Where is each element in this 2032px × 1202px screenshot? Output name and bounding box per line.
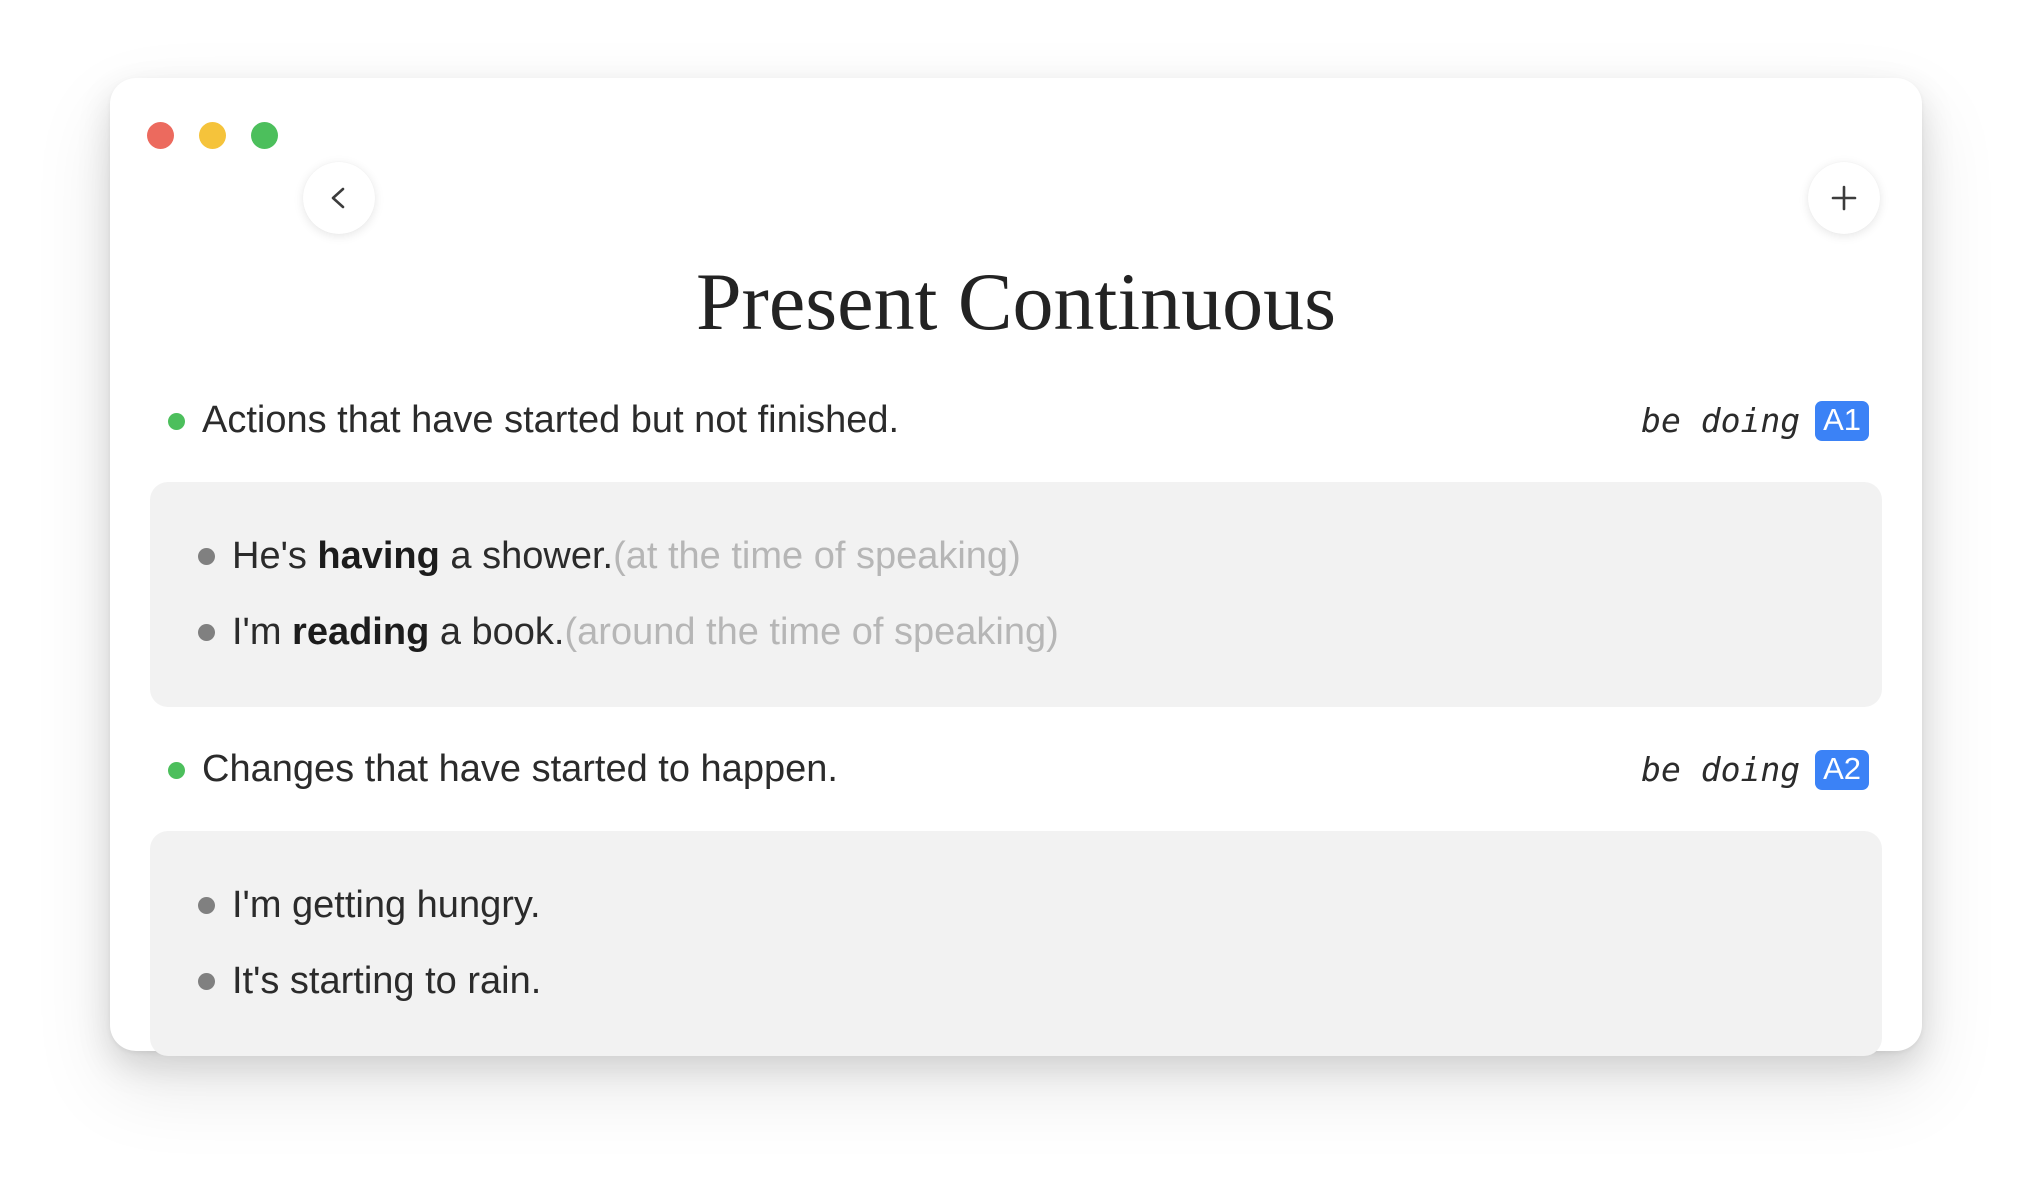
- screen: Present Continuous Actions that have sta…: [0, 0, 2032, 1202]
- rule-text: Actions that have started but not finish…: [202, 398, 899, 444]
- example-text: I'm reading a book.(around the time of s…: [232, 609, 1059, 657]
- chevron-left-icon: [326, 185, 352, 211]
- back-button[interactable]: [303, 162, 375, 234]
- rule-right: be doing A1: [1641, 401, 1869, 442]
- rule-left: Actions that have started but not finish…: [168, 398, 899, 444]
- bullet-icon: [198, 897, 215, 914]
- list-item[interactable]: He's having a shower.(at the time of spe…: [180, 522, 1852, 592]
- example-pre: I'm: [232, 611, 292, 653]
- bullet-icon: [168, 762, 185, 779]
- app-window: Present Continuous Actions that have sta…: [110, 78, 1922, 1051]
- plus-icon: [1829, 183, 1859, 213]
- list-item[interactable]: It's starting to rain.: [180, 947, 1852, 1017]
- example-text: It's starting to rain.: [232, 958, 541, 1006]
- rule-left: Changes that have started to happen.: [168, 747, 838, 793]
- zoom-button[interactable]: [251, 122, 278, 149]
- example-pre: I'm getting hungry.: [232, 884, 541, 926]
- page-title: Present Continuous: [110, 261, 1922, 343]
- list-item[interactable]: I'm reading a book.(around the time of s…: [180, 598, 1852, 668]
- example-bold: reading: [292, 611, 429, 653]
- close-button[interactable]: [147, 122, 174, 149]
- traffic-lights: [147, 122, 278, 149]
- example-text: He's having a shower.(at the time of spe…: [232, 533, 1021, 581]
- rule-row[interactable]: Actions that have started but not finish…: [150, 378, 1882, 464]
- example-bold: having: [317, 535, 439, 577]
- add-button[interactable]: [1808, 162, 1880, 234]
- level-badge[interactable]: A2: [1815, 750, 1869, 791]
- verb-form-label: be doing: [1641, 401, 1800, 440]
- example-post: a book.: [429, 611, 564, 653]
- bullet-icon: [198, 548, 215, 565]
- rule-text: Changes that have started to happen.: [202, 747, 838, 793]
- example-note: (around the time of speaking): [565, 611, 1059, 653]
- example-card: He's having a shower.(at the time of spe…: [150, 482, 1882, 707]
- bullet-icon: [168, 413, 185, 430]
- rule-right: be doing A2: [1641, 750, 1869, 791]
- minimize-button[interactable]: [199, 122, 226, 149]
- example-pre: He's: [232, 535, 317, 577]
- example-card: I'm getting hungry. It's starting to rai…: [150, 831, 1882, 1056]
- list-item[interactable]: I'm getting hungry.: [180, 871, 1852, 941]
- example-text: I'm getting hungry.: [232, 882, 541, 930]
- verb-form-label: be doing: [1641, 750, 1800, 789]
- rule-row[interactable]: Changes that have started to happen. be …: [150, 727, 1882, 813]
- example-note: (at the time of speaking): [613, 535, 1021, 577]
- content-area: Actions that have started but not finish…: [110, 378, 1922, 1076]
- bullet-icon: [198, 624, 215, 641]
- example-post: a shower.: [440, 535, 613, 577]
- example-pre: It's starting to rain.: [232, 960, 541, 1002]
- bullet-icon: [198, 973, 215, 990]
- window-titlebar: [110, 78, 1922, 206]
- level-badge[interactable]: A1: [1815, 401, 1869, 442]
